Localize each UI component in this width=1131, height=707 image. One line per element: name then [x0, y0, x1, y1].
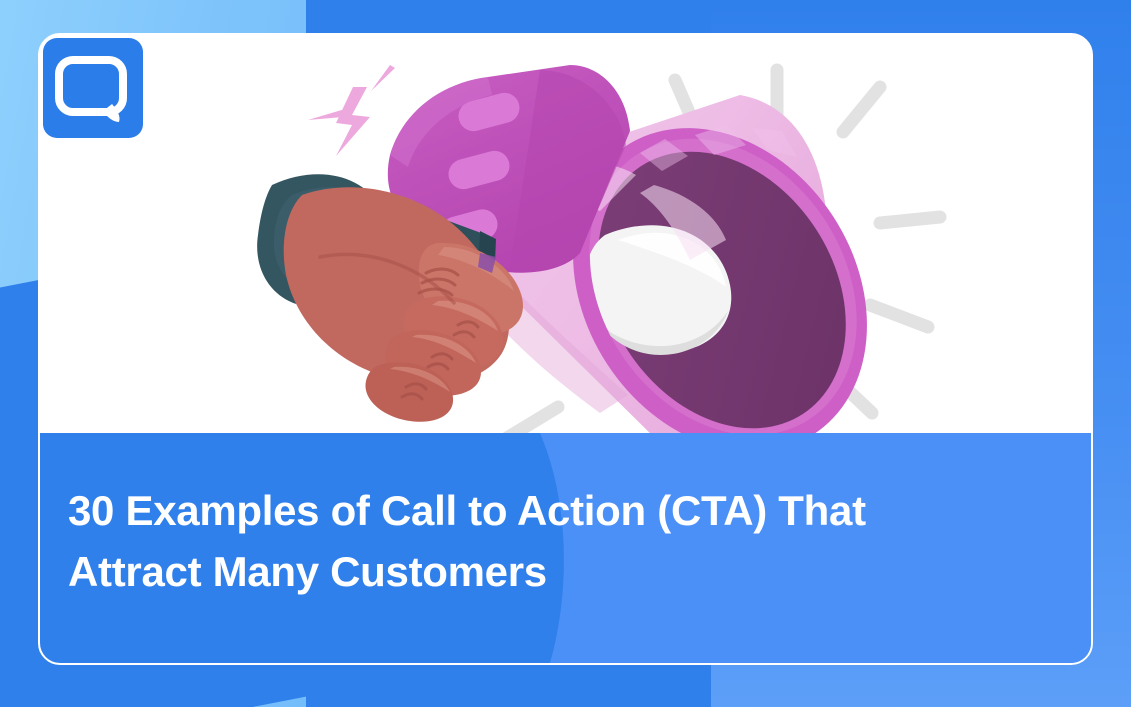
speech-bubble-q-icon	[59, 60, 123, 112]
page-title-line-2: Attract Many Customers	[68, 542, 1048, 603]
page-title-line-1: 30 Examples of Call to Action (CTA) That	[68, 481, 1048, 542]
title-band: 30 Examples of Call to Action (CTA) That…	[40, 433, 1093, 663]
megaphone-illustration	[40, 35, 1093, 445]
brand-logo[interactable]	[43, 38, 143, 138]
page-background: 30 Examples of Call to Action (CTA) That…	[0, 0, 1131, 707]
article-cover-card: 30 Examples of Call to Action (CTA) That…	[38, 33, 1093, 665]
page-title: 30 Examples of Call to Action (CTA) That…	[68, 481, 1048, 603]
lightning-bolt	[308, 65, 395, 156]
